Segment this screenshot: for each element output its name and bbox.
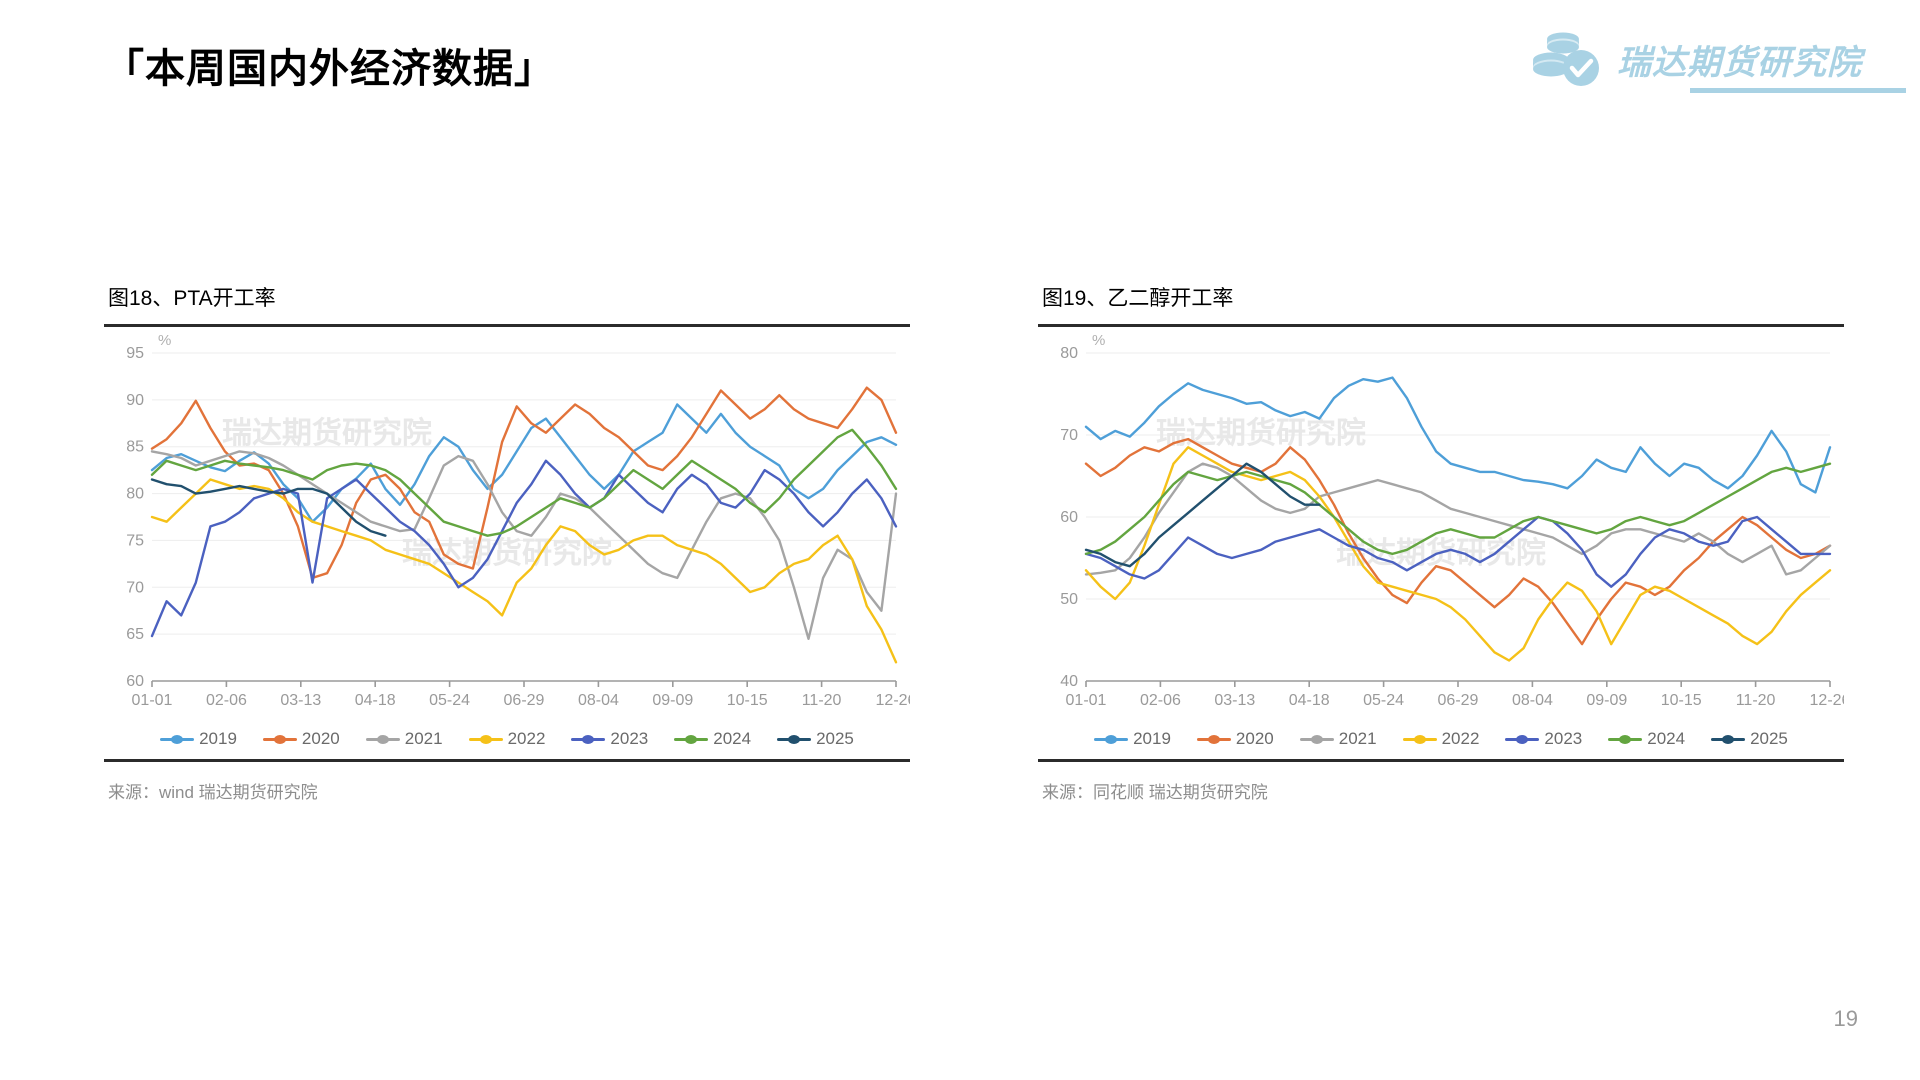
legend-item-2019[interactable]: 2019	[160, 729, 237, 749]
legend-label: 2020	[1236, 729, 1274, 749]
legend-label: 2021	[405, 729, 443, 749]
svg-text:05-24: 05-24	[429, 692, 470, 709]
panel-title-pta: 图18、PTA开工率	[108, 282, 910, 312]
svg-text:02-06: 02-06	[1140, 692, 1181, 709]
legend-meg: 2019202020212022202320242025	[1038, 729, 1844, 755]
svg-text:11-20: 11-20	[1736, 692, 1776, 709]
legend-item-2021[interactable]: 2021	[1300, 729, 1377, 749]
page-title: 「本周国内外经济数据」	[104, 36, 555, 94]
svg-text:02-06: 02-06	[206, 692, 247, 709]
legend-item-2020[interactable]: 2020	[1197, 729, 1274, 749]
legend-item-2022[interactable]: 2022	[1403, 729, 1480, 749]
legend-marker-icon	[1711, 733, 1745, 745]
panel-meg: 图19、乙二醇开工率 %4050607080瑞达期货研究院瑞达期货研究院01-0…	[1038, 282, 1844, 803]
legend-label: 2023	[1544, 729, 1582, 749]
slide: 「本周国内外经济数据」 瑞达期货研究院 图18	[0, 0, 1920, 1080]
svg-text:80: 80	[126, 486, 144, 503]
legend-marker-icon	[469, 733, 503, 745]
svg-text:10-15: 10-15	[727, 692, 768, 709]
svg-text:01-01: 01-01	[132, 692, 173, 709]
legend-marker-icon	[1094, 733, 1128, 745]
legend-marker-icon	[571, 733, 605, 745]
svg-text:08-04: 08-04	[1512, 692, 1553, 709]
legend-pta: 2019202020212022202320242025	[104, 729, 910, 755]
svg-text:06-29: 06-29	[1438, 692, 1479, 709]
brand-logo: 瑞达期货研究院	[1529, 30, 1862, 88]
svg-text:03-13: 03-13	[1214, 692, 1255, 709]
legend-item-2023[interactable]: 2023	[571, 729, 648, 749]
chart-meg: %4050607080瑞达期货研究院瑞达期货研究院01-0102-0603-13…	[1038, 327, 1844, 727]
svg-text:90: 90	[126, 392, 144, 409]
svg-text:10-15: 10-15	[1661, 692, 1702, 709]
legend-marker-icon	[1197, 733, 1231, 745]
legend-item-2025[interactable]: 2025	[1711, 729, 1788, 749]
logo-underline	[1690, 88, 1906, 93]
legend-marker-icon	[674, 733, 708, 745]
legend-marker-icon	[777, 733, 811, 745]
legend-label: 2022	[1442, 729, 1480, 749]
svg-text:04-18: 04-18	[1289, 692, 1330, 709]
svg-text:75: 75	[126, 532, 144, 549]
brand-name: 瑞达期货研究院	[1617, 35, 1862, 84]
legend-label: 2022	[508, 729, 546, 749]
legend-marker-icon	[263, 733, 297, 745]
legend-marker-icon	[1608, 733, 1642, 745]
legend-item-2025[interactable]: 2025	[777, 729, 854, 749]
svg-text:01-01: 01-01	[1066, 692, 1107, 709]
svg-text:%: %	[1092, 332, 1105, 349]
svg-text:70: 70	[126, 579, 144, 596]
svg-text:瑞达期货研究院: 瑞达期货研究院	[222, 416, 432, 451]
legend-marker-icon	[1403, 733, 1437, 745]
coins-check-icon	[1529, 30, 1607, 88]
svg-text:06-29: 06-29	[504, 692, 545, 709]
legend-label: 2024	[1647, 729, 1685, 749]
legend-label: 2019	[199, 729, 237, 749]
svg-text:95: 95	[126, 345, 144, 362]
svg-text:05-24: 05-24	[1363, 692, 1404, 709]
page-number: 19	[1834, 1006, 1858, 1032]
legend-label: 2023	[610, 729, 648, 749]
svg-text:03-13: 03-13	[280, 692, 321, 709]
legend-label: 2025	[816, 729, 854, 749]
legend-label: 2021	[1339, 729, 1377, 749]
panel-rule-bottom-right	[1038, 759, 1844, 762]
legend-item-2020[interactable]: 2020	[263, 729, 340, 749]
legend-marker-icon	[1300, 733, 1334, 745]
legend-item-2024[interactable]: 2024	[1608, 729, 1685, 749]
source-meg: 来源：同花顺 瑞达期货研究院	[1042, 778, 1844, 803]
legend-item-2021[interactable]: 2021	[366, 729, 443, 749]
legend-item-2024[interactable]: 2024	[674, 729, 751, 749]
svg-text:12-26: 12-26	[876, 692, 910, 709]
panel-rule-bottom-left	[104, 759, 910, 762]
legend-item-2023[interactable]: 2023	[1505, 729, 1582, 749]
svg-text:12-26: 12-26	[1810, 692, 1844, 709]
svg-text:40: 40	[1060, 673, 1078, 690]
svg-text:%: %	[158, 332, 171, 349]
svg-text:60: 60	[126, 673, 144, 690]
source-pta: 来源：wind 瑞达期货研究院	[108, 778, 910, 803]
svg-text:08-04: 08-04	[578, 692, 619, 709]
svg-text:09-09: 09-09	[1586, 692, 1627, 709]
svg-text:11-20: 11-20	[802, 692, 842, 709]
svg-text:80: 80	[1060, 345, 1078, 362]
legend-marker-icon	[1505, 733, 1539, 745]
legend-label: 2020	[302, 729, 340, 749]
svg-text:60: 60	[1060, 509, 1078, 526]
svg-text:09-09: 09-09	[652, 692, 693, 709]
chart-pta: %6065707580859095瑞达期货研究院瑞达期货研究院01-0102-0…	[104, 327, 910, 727]
legend-marker-icon	[366, 733, 400, 745]
legend-label: 2019	[1133, 729, 1171, 749]
panel-title-meg: 图19、乙二醇开工率	[1042, 282, 1844, 312]
legend-label: 2024	[713, 729, 751, 749]
svg-text:瑞达期货研究院: 瑞达期货研究院	[1156, 416, 1366, 451]
svg-text:70: 70	[1060, 427, 1078, 444]
svg-text:85: 85	[126, 439, 144, 456]
svg-text:65: 65	[126, 626, 144, 643]
legend-item-2019[interactable]: 2019	[1094, 729, 1171, 749]
svg-text:50: 50	[1060, 591, 1078, 608]
panel-pta: 图18、PTA开工率 %6065707580859095瑞达期货研究院瑞达期货研…	[104, 282, 910, 803]
legend-marker-icon	[160, 733, 194, 745]
legend-label: 2025	[1750, 729, 1788, 749]
legend-item-2022[interactable]: 2022	[469, 729, 546, 749]
svg-text:04-18: 04-18	[355, 692, 396, 709]
